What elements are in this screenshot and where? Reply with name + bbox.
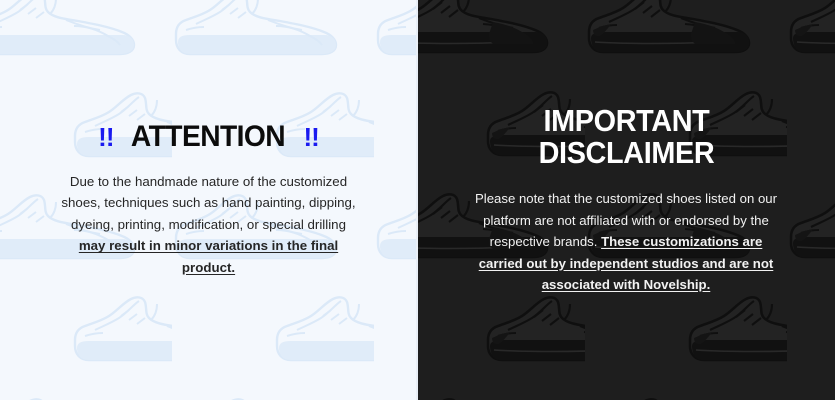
- attention-content: !! ATTENTION !! Due to the handmade natu…: [0, 0, 417, 400]
- exclamation-suffix-icon: !!: [304, 124, 319, 150]
- disclaimer-content: IMPORTANT DISCLAIMER Please note that th…: [417, 0, 835, 400]
- attention-body-plain: Due to the handmade nature of the custom…: [61, 174, 355, 232]
- attention-title: ATTENTION: [131, 122, 285, 152]
- disclaimer-title-line-1: IMPORTANT: [538, 105, 714, 137]
- disclaimer-body: Please note that the customized shoes li…: [470, 188, 782, 295]
- panel-divider: [416, 0, 418, 400]
- disclaimer-title: IMPORTANT DISCLAIMER: [538, 105, 714, 169]
- disclaimer-title-line-2: DISCLAIMER: [538, 137, 714, 169]
- disclaimer-panel: IMPORTANT DISCLAIMER Please note that th…: [417, 0, 835, 400]
- customization-disclaimer-banner: !! ATTENTION !! Due to the handmade natu…: [0, 0, 835, 400]
- attention-panel: !! ATTENTION !! Due to the handmade natu…: [0, 0, 417, 400]
- attention-heading-row: !! ATTENTION !!: [98, 122, 319, 152]
- attention-body: Due to the handmade nature of the custom…: [59, 171, 359, 279]
- attention-body-emphasis: may result in minor variations in the fi…: [79, 238, 338, 275]
- exclamation-prefix-icon: !!: [98, 124, 113, 150]
